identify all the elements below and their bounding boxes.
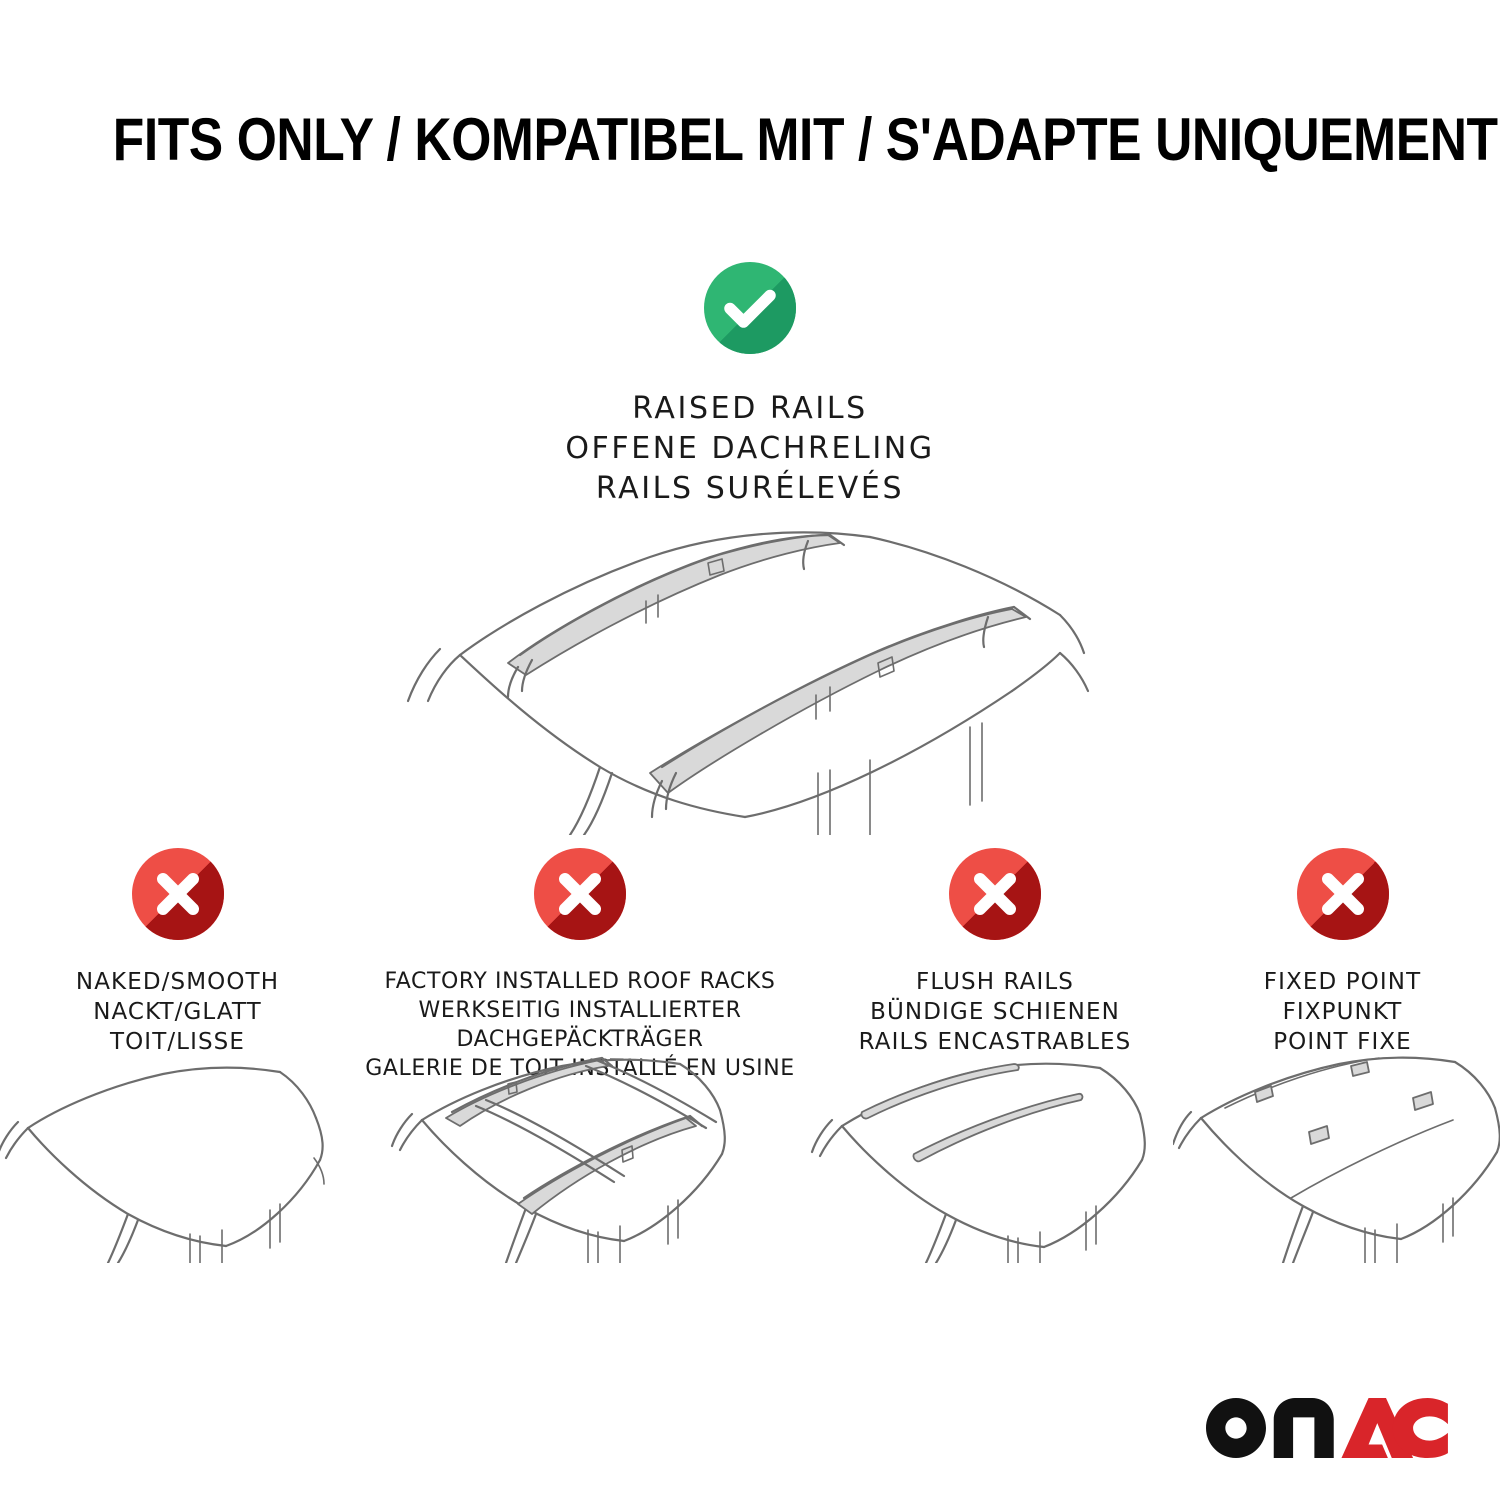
incompatible-item-fixed-point: FIXED POINT FIXPUNKT POINT FIXE <box>1185 848 1500 1057</box>
incompatible-row: NAKED/SMOOTH NACKT/GLATT TOIT/LISSE <box>0 848 1500 1083</box>
car-roof-fixed-point-illustration <box>1173 1048 1500 1263</box>
incompatible-label-en: FACTORY INSTALLED ROOF RACKS <box>355 967 805 996</box>
incompatible-label-de-1: WERKSEITIG INSTALLIERTER <box>355 996 805 1025</box>
incompatible-label-en: FIXED POINT <box>1185 967 1500 997</box>
cross-circle-icon <box>949 848 1041 940</box>
incompatible-item-naked-smooth: NAKED/SMOOTH NACKT/GLATT TOIT/LISSE <box>0 848 355 1057</box>
incompatible-label-en: FLUSH RAILS <box>805 967 1185 997</box>
cross-glyph <box>1297 848 1389 940</box>
omac-logo-letter-o <box>1206 1398 1266 1458</box>
car-roof-raised-rails-illustration <box>400 505 1120 835</box>
cross-circle-icon <box>534 848 626 940</box>
incompatible-labels: FLUSH RAILS BÜNDIGE SCHIENEN RAILS ENCAS… <box>805 967 1185 1057</box>
incompatible-label-de: NACKT/GLATT <box>0 997 355 1027</box>
incompatible-label-de: BÜNDIGE SCHIENEN <box>805 997 1185 1027</box>
page-title-text: FITS ONLY / KOMPATIBEL MIT / S'ADAPTE UN… <box>113 105 1498 175</box>
cross-glyph <box>949 848 1041 940</box>
compatible-labels: RAISED RAILS OFFENE DACHRELING RAILS SUR… <box>0 389 1500 509</box>
incompatible-labels: FIXED POINT FIXPUNKT POINT FIXE <box>1185 967 1500 1057</box>
cross-circle-icon <box>132 848 224 940</box>
car-roof-factory-racks-illustration <box>390 1048 770 1263</box>
cross-glyph <box>534 848 626 940</box>
incompatible-label-de: FIXPUNKT <box>1185 997 1500 1027</box>
check-circle-icon <box>704 262 796 354</box>
incompatible-item-flush-rails: FLUSH RAILS BÜNDIGE SCHIENEN RAILS ENCAS… <box>805 848 1185 1057</box>
omac-logo <box>1206 1398 1448 1458</box>
incompatible-item-factory-racks: FACTORY INSTALLED ROOF RACKS WERKSEITIG … <box>355 848 805 1083</box>
fitment-infographic: FITS ONLY / KOMPATIBEL MIT / S'ADAPTE UN… <box>0 0 1500 1500</box>
incompatible-labels: NAKED/SMOOTH NACKT/GLATT TOIT/LISSE <box>0 967 355 1057</box>
incompatible-label-en: NAKED/SMOOTH <box>0 967 355 997</box>
omac-logo-letter-m <box>1274 1398 1334 1458</box>
cross-circle-icon <box>1297 848 1389 940</box>
compatible-label-fr: RAILS SURÉLEVÉS <box>0 469 1500 509</box>
page-title: FITS ONLY / KOMPATIBEL MIT / S'ADAPTE UN… <box>0 105 1500 175</box>
cross-glyph <box>132 848 224 940</box>
check-glyph <box>704 262 796 354</box>
car-roof-flush-rails-illustration <box>810 1048 1180 1263</box>
car-roof-naked-smooth-illustration <box>0 1048 358 1263</box>
compatible-label-en: RAISED RAILS <box>0 389 1500 429</box>
compatible-label-de: OFFENE DACHRELING <box>0 429 1500 469</box>
compatible-block: RAISED RAILS OFFENE DACHRELING RAILS SUR… <box>0 262 1500 509</box>
